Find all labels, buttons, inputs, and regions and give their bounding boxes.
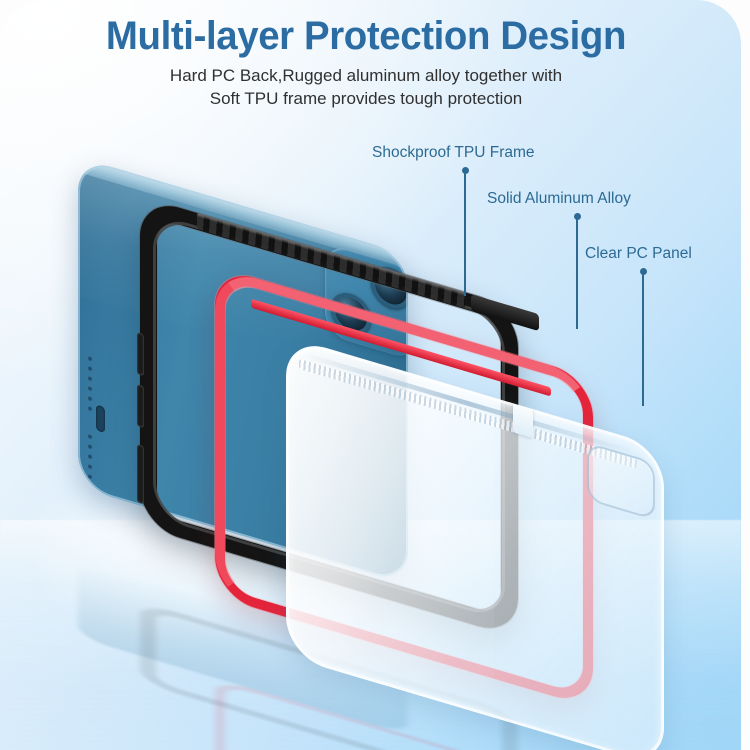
callout-leader-aluminum-alloy bbox=[576, 216, 578, 329]
exploded-product-render bbox=[0, 0, 741, 750]
tpu-power-button bbox=[137, 444, 144, 504]
tpu-volume-button bbox=[137, 384, 144, 428]
callout-label-tpu-frame: Shockproof TPU Frame bbox=[372, 144, 535, 162]
callout-leader-tpu-frame bbox=[464, 170, 466, 296]
subtitle-line-2: Soft TPU frame provides tough protection bbox=[0, 87, 732, 110]
background-card: Multi-layer Protection Design Hard PC Ba… bbox=[0, 0, 741, 750]
page-title: Multi-layer Protection Design bbox=[15, 14, 718, 59]
pc-camera-cutout bbox=[587, 442, 655, 520]
subtitle-line-1: Hard PC Back,Rugged aluminum alloy toget… bbox=[0, 64, 732, 87]
tpu-volume-button bbox=[137, 332, 144, 376]
page-subtitle: Hard PC Back,Rugged aluminum alloy toget… bbox=[0, 64, 732, 110]
callout-label-pc-panel: Clear PC Panel bbox=[585, 245, 692, 263]
callout-label-aluminum-alloy: Solid Aluminum Alloy bbox=[487, 190, 631, 208]
callout-leader-pc-panel bbox=[642, 271, 644, 406]
product-feature-image: Multi-layer Protection Design Hard PC Ba… bbox=[0, 0, 750, 750]
